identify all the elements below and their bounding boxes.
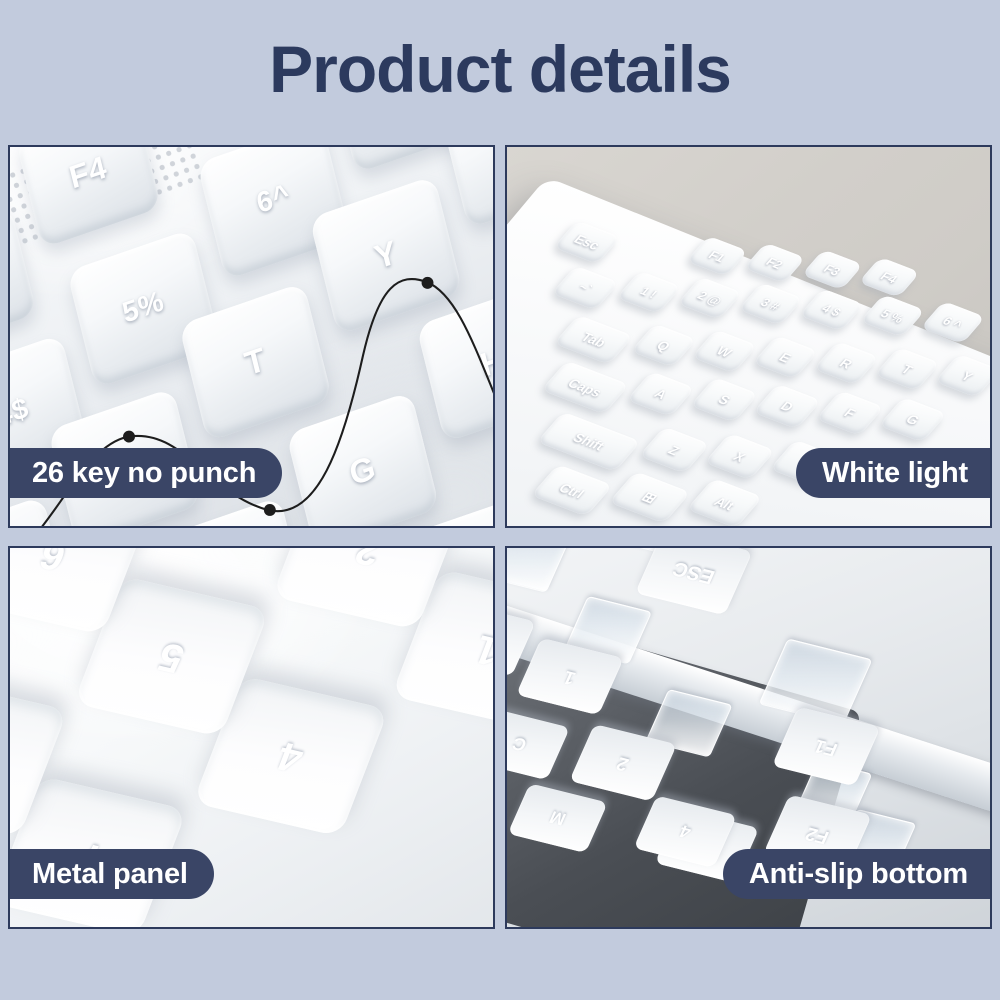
- keycap: Shift: [537, 412, 641, 472]
- keycap: F: [816, 390, 885, 435]
- keycap: 5 %: [860, 294, 925, 337]
- keycap: F2: [744, 243, 806, 284]
- keycap: Q: [631, 323, 697, 367]
- badge-metal-panel: Metal panel: [8, 849, 214, 899]
- keycap: ⊞: [609, 471, 691, 523]
- keycap: 4 $: [799, 288, 864, 331]
- curve-node-dot: [422, 277, 434, 289]
- keycap: Caps: [541, 361, 629, 415]
- keycap: ~`: [551, 266, 619, 311]
- page-title: Product details: [0, 36, 1000, 102]
- keycap: 6 ^: [920, 301, 985, 344]
- curve-node-dot: [264, 504, 276, 516]
- badge-white-light: White light: [796, 448, 992, 498]
- keycap: ESC: [635, 548, 753, 615]
- keycap: 2 @: [677, 277, 742, 320]
- panel-white-light[interactable]: EscF1F2F3F4~`1 !2 @3 #4 $5 %6 ^TabQWERTY…: [505, 145, 992, 528]
- keycap: A: [626, 371, 695, 416]
- badge-anti-slip-bottom: Anti-slip bottom: [723, 849, 992, 899]
- keycap: Esc: [553, 220, 620, 264]
- switch-housing: [507, 548, 570, 593]
- keycap: W: [692, 329, 758, 373]
- panel-metal-panel[interactable]: AWEADN 12345678 Metal panel: [8, 546, 495, 929]
- keycap: D: [753, 384, 822, 429]
- panel-anti-slip-bottom[interactable]: ESCF1F2F3124MCAT Anti-slip bottom: [505, 546, 992, 929]
- keycap: F1: [686, 236, 748, 277]
- keycap: Tab: [554, 315, 634, 365]
- keycap: Z: [639, 426, 710, 473]
- keycap: E: [752, 335, 818, 379]
- keycap: Ctrl: [531, 464, 613, 516]
- keycap: 3 #: [738, 282, 803, 325]
- panel-key-rollover[interactable]: F3F44$5%6^7&ERTYUFGHB 26 key no punch: [8, 145, 495, 528]
- keycap: X: [704, 433, 775, 480]
- keycap: S: [690, 377, 759, 422]
- keycap: R: [813, 341, 879, 385]
- keycap: 1 !: [616, 271, 681, 314]
- keycap: F3: [801, 249, 863, 290]
- keycap: T: [874, 347, 940, 391]
- product-details-grid: F3F44$5%6^7&ERTYUFGHB 26 key no punch Es…: [8, 145, 992, 929]
- badge-key-rollover: 26 key no punch: [8, 448, 282, 498]
- curve-node-dot: [123, 431, 135, 443]
- keycap: C: [507, 708, 570, 780]
- keycap: Alt: [686, 478, 763, 526]
